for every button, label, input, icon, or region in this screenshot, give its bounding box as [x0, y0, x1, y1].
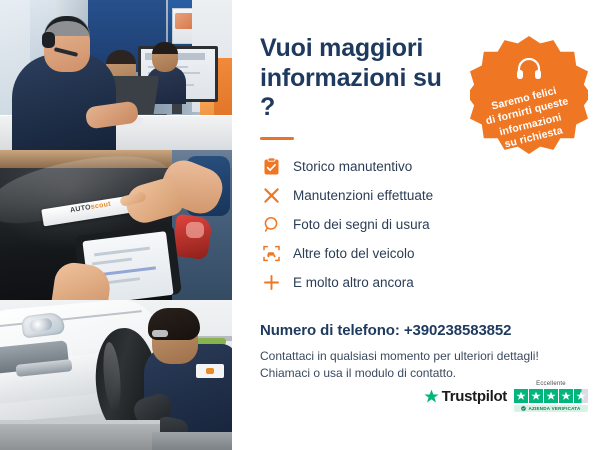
- star-half-icon: [574, 389, 588, 403]
- star-filled-icon: [559, 389, 573, 403]
- headline-line-1: Vuoi maggiori: [260, 34, 423, 62]
- star-filled-icon: [514, 389, 528, 403]
- title-divider: [260, 137, 294, 140]
- phone-label: Numero di telefono:: [260, 322, 404, 339]
- feature-item-molto-altro: E molto altro ancora: [260, 268, 578, 297]
- feature-item-altre-foto: Altre foto del veicolo: [260, 239, 578, 268]
- vehicle-inspection-photo: AUTOscout: [0, 150, 232, 300]
- verified-label: AZIENDA VERIFICATA: [528, 406, 580, 411]
- feature-label: Altre foto del veicolo: [293, 246, 415, 261]
- contact-subtext-line-1: Contattaci in qualsiasi momento per ulte…: [260, 349, 539, 363]
- magnifier-icon: [260, 214, 282, 234]
- trustpilot-rating: Eccellente: [514, 381, 588, 412]
- uniform-logo-mark: [206, 368, 214, 374]
- contact-subtext: Contattaci in qualsiasi momento per ulte…: [260, 348, 578, 383]
- plus-icon: [260, 272, 282, 292]
- lift-platform: [0, 424, 160, 450]
- feature-label: E molto altro ancora: [293, 275, 414, 290]
- feature-list: Storico manutentivo Manutenzioni effettu…: [260, 152, 578, 297]
- call-center-photo: [0, 0, 232, 150]
- feature-label: Manutenzioni effettuate: [293, 188, 433, 203]
- phone-line: Numero di telefono: +390238583852: [260, 322, 578, 339]
- car-frame-icon: [260, 243, 282, 263]
- headline-line-2: informazioni su ?: [260, 64, 442, 122]
- feature-item-manutenzioni: Manutenzioni effettuate: [260, 181, 578, 210]
- mechanic-wheel-photo: [0, 300, 232, 450]
- star-filled-icon: [529, 389, 543, 403]
- feature-label: Storico manutentivo: [293, 159, 412, 174]
- star-filled-icon: [544, 389, 558, 403]
- taillight-highlight: [186, 222, 204, 238]
- callout-badge: Saremo felici di fornirti queste informa…: [470, 36, 588, 154]
- feature-label: Foto dei segni di usura: [293, 217, 430, 232]
- page-title: Vuoi maggiori informazioni su ?: [260, 34, 460, 123]
- wrench-tools-icon: [260, 185, 282, 205]
- promo-banner: AUTOscout: [0, 0, 600, 450]
- trustpilot-logo: Trustpilot: [424, 388, 507, 405]
- verified-check-icon: [521, 406, 526, 411]
- trustpilot-widget[interactable]: Trustpilot Eccellente: [424, 381, 588, 412]
- contact-subtext-line-2: Chiamaci o usa il modulo di contatto.: [260, 366, 456, 380]
- clipboard-check-icon: [260, 156, 282, 176]
- content-panel: Vuoi maggiori informazioni su ? Saremo f…: [232, 0, 600, 450]
- headset-earcup-icon: [42, 32, 55, 48]
- trustpilot-star-icon: [424, 389, 439, 404]
- workbench: [152, 432, 232, 450]
- photo-column: AUTOscout: [0, 0, 232, 450]
- trustpilot-name: Trustpilot: [442, 388, 507, 405]
- rating-label: Eccellente: [514, 381, 588, 387]
- star-rating: [514, 389, 588, 403]
- feature-item-foto-usura: Foto dei segni di usura: [260, 210, 578, 239]
- verified-badge: AZIENDA VERIFICATA: [514, 405, 588, 412]
- feature-item-storico: Storico manutentivo: [260, 152, 578, 181]
- phone-number[interactable]: +390238583852: [404, 322, 512, 339]
- headset-icon: [516, 58, 542, 80]
- mechanic-glasses: [152, 330, 168, 337]
